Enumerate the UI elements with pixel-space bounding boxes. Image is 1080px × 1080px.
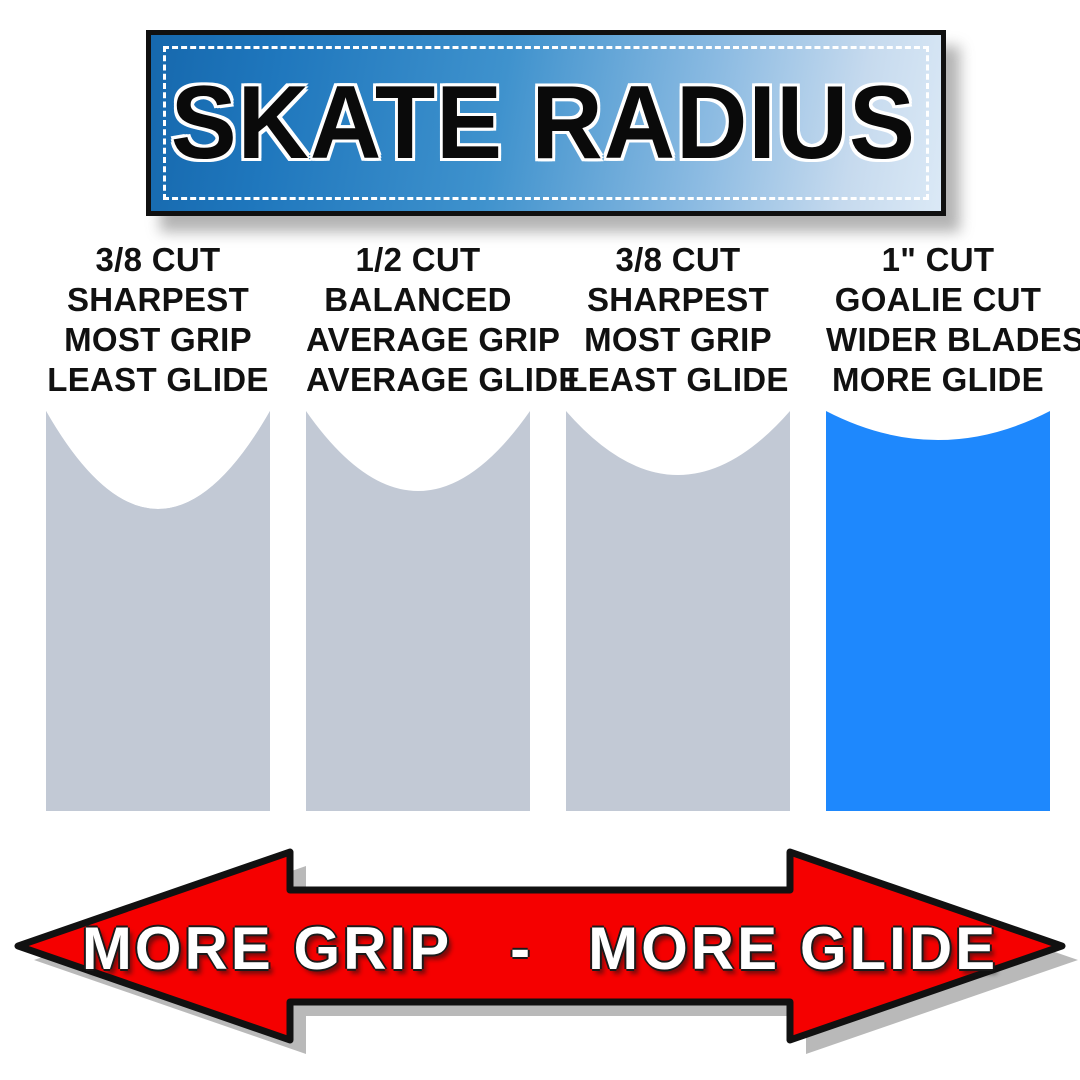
column-4-blade-profile <box>826 411 1050 811</box>
title-banner: SKATE RADIUS GUIDE <box>146 30 946 216</box>
column-3-cut: 3/8 CUT <box>566 240 790 280</box>
column-4-grip: WIDER BLADES <box>826 320 1050 360</box>
grip-glide-arrow: MORE GRIP - MORE GLIDE <box>0 836 1080 1061</box>
column-1-grip: MOST GRIP <box>46 320 270 360</box>
column-3-grip: MOST GRIP <box>566 320 790 360</box>
column-4-glide: MORE GLIDE <box>826 360 1050 400</box>
radius-column-4[interactable]: 1" CUT GOALIE CUT WIDER BLADES MORE GLID… <box>826 240 1050 811</box>
column-3-blade-profile <box>566 411 790 811</box>
column-4-caption: 1" CUT GOALIE CUT WIDER BLADES MORE GLID… <box>826 240 1050 400</box>
column-2-cut: 1/2 CUT <box>306 240 530 280</box>
column-3-caption: 3/8 CUT SHARPEST MOST GRIP LEAST GLIDE <box>566 240 790 400</box>
column-2-descriptor: BALANCED <box>306 280 530 320</box>
column-1-glide: LEAST GLIDE <box>46 360 270 400</box>
column-2-caption: 1/2 CUT BALANCED AVERAGE GRIP AVERAGE GL… <box>306 240 530 400</box>
column-2-blade-profile <box>306 411 530 811</box>
radius-column-1[interactable]: 3/8 CUT SHARPEST MOST GRIP LEAST GLIDE <box>46 240 270 811</box>
page-title: SKATE RADIUS GUIDE <box>171 71 922 175</box>
column-2-glide: AVERAGE GLIDE <box>306 360 530 400</box>
column-1-caption: 3/8 CUT SHARPEST MOST GRIP LEAST GLIDE <box>46 240 270 400</box>
radius-column-3[interactable]: 3/8 CUT SHARPEST MOST GRIP LEAST GLIDE <box>566 240 790 811</box>
infographic-canvas: SKATE RADIUS GUIDE 3/8 CUT SHARPEST MOST… <box>0 0 1080 1080</box>
column-4-descriptor: GOALIE CUT <box>826 280 1050 320</box>
column-3-descriptor: SHARPEST <box>566 280 790 320</box>
column-4-cut: 1" CUT <box>826 240 1050 280</box>
radius-column-2[interactable]: 1/2 CUT BALANCED AVERAGE GRIP AVERAGE GL… <box>306 240 530 811</box>
column-2-grip: AVERAGE GRIP <box>306 320 530 360</box>
radius-column-group: 3/8 CUT SHARPEST MOST GRIP LEAST GLIDE 1… <box>0 240 1080 805</box>
column-1-descriptor: SHARPEST <box>46 280 270 320</box>
column-1-cut: 3/8 CUT <box>46 240 270 280</box>
column-1-blade-profile <box>46 411 270 811</box>
column-3-glide: LEAST GLIDE <box>566 360 790 400</box>
